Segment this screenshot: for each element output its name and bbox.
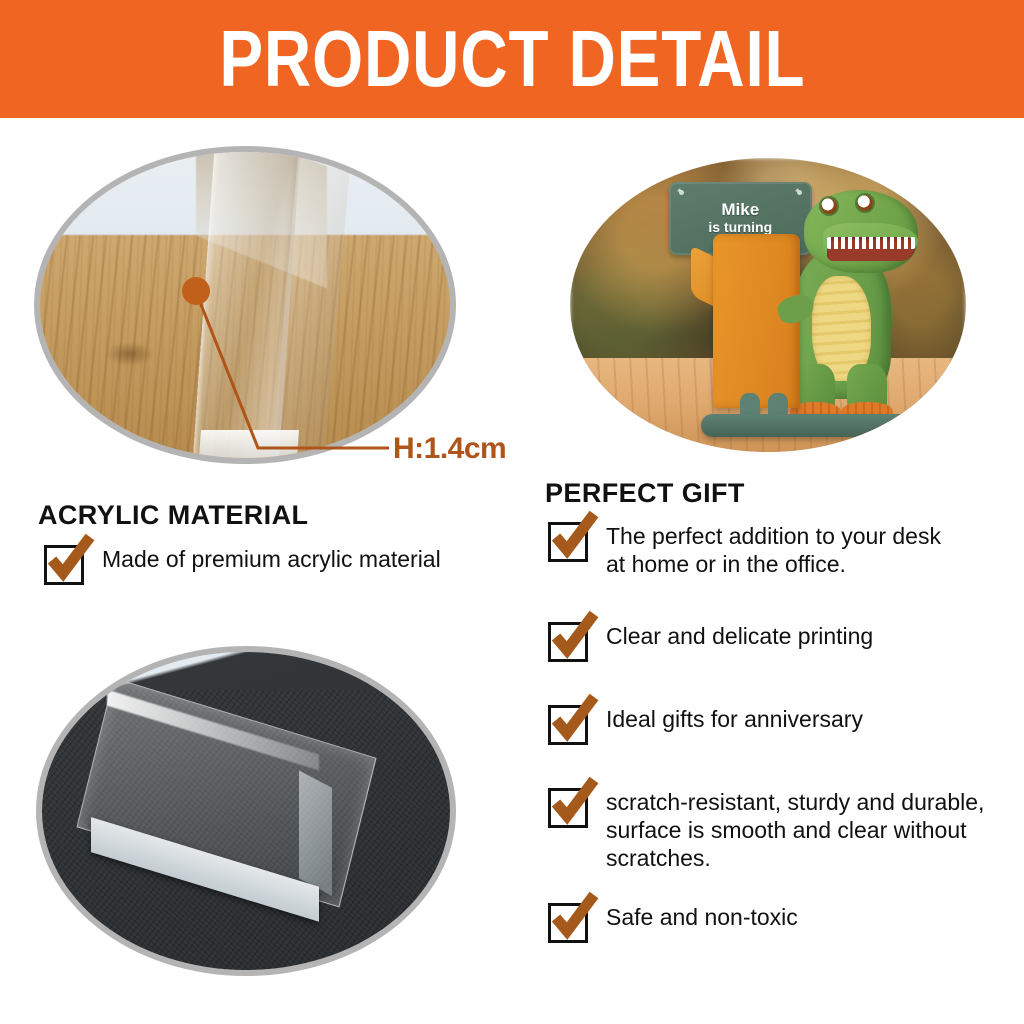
checklist-item[interactable]: Clear and delicate printing [548, 622, 1008, 662]
checklist-line: Safe and non-toxic [606, 903, 798, 931]
checklist-text: Safe and non-toxic [606, 903, 798, 931]
checklist-line: The perfect addition to your desk [606, 522, 941, 550]
check-icon [548, 778, 598, 828]
section-title-acrylic: ACRYLIC MATERIAL [38, 500, 308, 531]
dinosaur-teeth [827, 237, 914, 249]
checklist-text: Ideal gifts for anniversary [606, 705, 863, 733]
checkbox[interactable] [548, 705, 588, 745]
checklist-text: Clear and delicate printing [606, 622, 873, 650]
checklist-item[interactable]: Safe and non-toxic [548, 903, 1008, 943]
sign-subtitle-text: is turning [708, 219, 772, 235]
checklist-item[interactable]: Ideal gifts for anniversary [548, 705, 1008, 745]
wood-knot [106, 342, 154, 366]
checklist-text: Made of premium acrylic material [102, 545, 441, 573]
thickness-label: H:1.4cm [393, 432, 506, 466]
header-banner: PRODUCT DETAIL [0, 0, 1024, 118]
figurine-base [701, 414, 911, 438]
acrylic-edge-photo [40, 152, 450, 458]
dinosaur-eye-right [857, 195, 873, 211]
check-icon [548, 612, 598, 662]
checklist-line: Clear and delicate printing [606, 622, 873, 650]
checklist-line: Made of premium acrylic material [102, 545, 441, 573]
dinosaur-figurine-photo: Mike is turning [570, 158, 966, 452]
sign-name-text: Mike [721, 201, 759, 219]
checklist-line: scratches. [606, 844, 984, 872]
checkbox[interactable] [548, 622, 588, 662]
checklist-item[interactable]: Made of premium acrylic material [44, 545, 514, 585]
acrylic-block-photo [42, 652, 450, 970]
paw-print-icon [795, 188, 804, 197]
checklist-line: scratch-resistant, sturdy and durable, [606, 788, 984, 816]
page-title: PRODUCT DETAIL [219, 19, 805, 99]
check-icon [548, 695, 598, 745]
checkbox[interactable] [548, 522, 588, 562]
checklist-item[interactable]: scratch-resistant, sturdy and durable, s… [548, 788, 1008, 872]
checklist-line: Ideal gifts for anniversary [606, 705, 863, 733]
check-icon [44, 535, 94, 585]
checklist-line: surface is smooth and clear without [606, 816, 984, 844]
checklist-item[interactable]: The perfect addition to your desk at hom… [548, 522, 1008, 578]
section-title-gift: PERFECT GIFT [545, 478, 745, 509]
check-icon [548, 512, 598, 562]
checkbox[interactable] [44, 545, 84, 585]
checklist-text: scratch-resistant, sturdy and durable, s… [606, 788, 984, 872]
checkbox[interactable] [548, 903, 588, 943]
paw-print-icon [677, 188, 686, 197]
check-icon [548, 893, 598, 943]
checklist-line: at home or in the office. [606, 550, 941, 578]
checkbox[interactable] [548, 788, 588, 828]
checklist-text: The perfect addition to your desk at hom… [606, 522, 941, 578]
acrylic-base-edge [199, 430, 299, 458]
product-detail-infographic: PRODUCT DETAIL H:1.4cm Mike is turning [0, 0, 1024, 1024]
